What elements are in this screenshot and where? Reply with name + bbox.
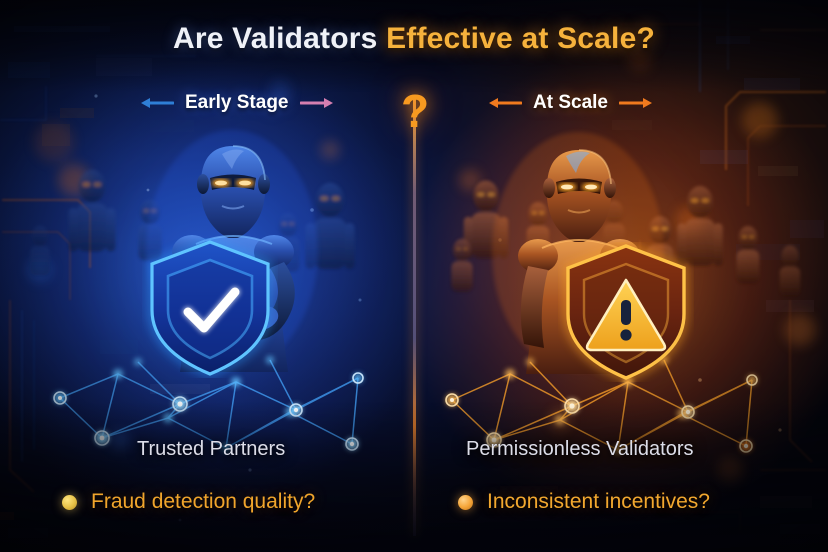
stage-label-early: Early Stage — [140, 92, 334, 114]
left-panel-glow — [0, 0, 414, 552]
infographic-canvas: Are Validators Effective at Scale? Early… — [0, 0, 828, 552]
bullet-row-left: Fraud detection quality? — [62, 490, 315, 514]
title-gold-part: Effective at Scale? — [386, 22, 655, 55]
caption-right: Permissionless Validators — [466, 438, 694, 461]
arrow-left-icon — [488, 95, 522, 111]
bullet-text-right: Inconsistent incentives? — [487, 490, 710, 514]
page-title: Are Validators Effective at Scale? — [0, 22, 828, 56]
bullet-text-left: Fraud detection quality? — [91, 490, 315, 514]
arrow-right-icon — [619, 95, 653, 111]
stage-label-scale-text: At Scale — [533, 92, 608, 114]
arrow-right-icon — [300, 95, 334, 111]
bullet-dot-icon — [62, 495, 77, 510]
bullet-row-right: Inconsistent incentives? — [458, 490, 710, 514]
stage-label-early-text: Early Stage — [185, 92, 289, 114]
bullet-dot-icon — [458, 495, 473, 510]
right-panel-glow — [414, 0, 828, 552]
caption-left: Trusted Partners — [137, 438, 285, 461]
center-question-mark: ? — [395, 88, 435, 134]
arrow-left-icon — [140, 95, 174, 111]
title-white-part: Are Validators — [173, 22, 386, 55]
stage-label-scale: At Scale — [488, 92, 653, 114]
